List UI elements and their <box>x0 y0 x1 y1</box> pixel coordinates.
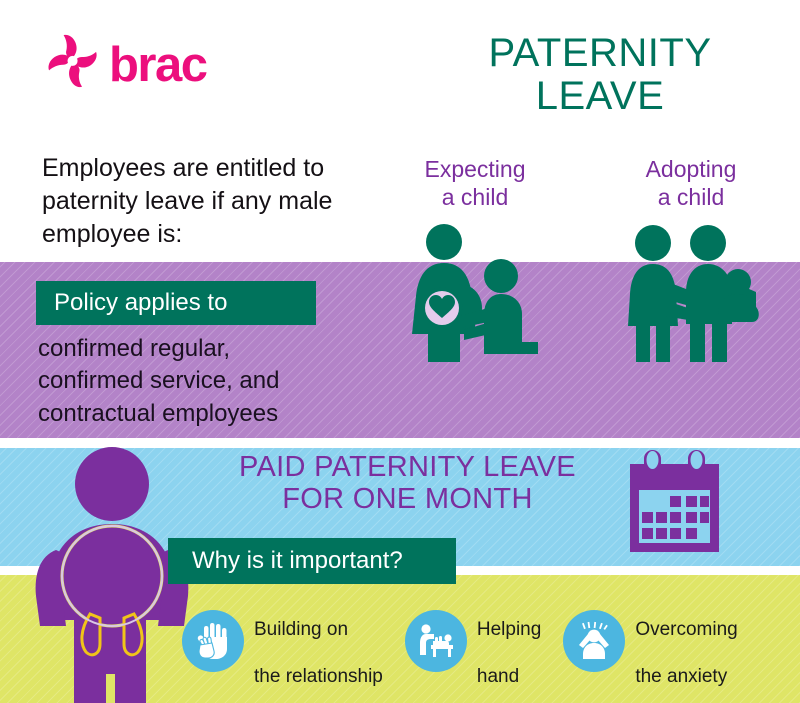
pregnant-couple-icon <box>398 222 548 364</box>
policy-heading-label: Policy applies to <box>54 289 227 317</box>
benefit-3-line-2: the anxiety <box>635 666 727 687</box>
importance-heading-box: Why is it important? <box>168 538 456 584</box>
benefit-1-line-1: Building on <box>254 619 348 640</box>
title-line-2: LEAVE <box>420 75 780 118</box>
benefit-building-on-the-relationship: Building on the relationship <box>182 595 383 688</box>
label-expecting-a-child: Expecting a child <box>390 155 560 211</box>
benefit-label-3: Overcoming the anxiety <box>635 595 737 688</box>
benefit-2-line-1: Helping <box>477 619 541 640</box>
benefit-label-2: Helping hand <box>477 595 541 688</box>
infographic-poster: brac PATERNITY LEAVE Employees are entit… <box>0 0 800 703</box>
expecting-line-2: a child <box>390 183 560 211</box>
page-title: PATERNITY LEAVE <box>420 32 780 118</box>
importance-heading-label: Why is it important? <box>192 547 403 575</box>
paid-leave-line-1: PAID PATERNITY LEAVE <box>235 452 580 484</box>
adopting-line-2: a child <box>606 183 776 211</box>
benefit-icon-circle-2 <box>405 610 467 672</box>
policy-body-text: confirmed regular, confirmed service, an… <box>38 333 338 430</box>
benefit-icon-circle-3 <box>563 610 625 672</box>
paid-leave-headline: PAID PATERNITY LEAVE FOR ONE MONTH <box>235 452 580 516</box>
benefit-2-line-2: hand <box>477 666 519 687</box>
adopting-line-1: Adopting <box>606 155 776 183</box>
intro-text: Employees are entitled to paternity leav… <box>42 152 342 251</box>
brand-wordmark: brac <box>109 41 207 90</box>
benefit-helping-hand: Helping hand <box>405 595 541 688</box>
benefit-overcoming-the-anxiety: Overcoming the anxiety <box>563 595 737 688</box>
changing-baby-icon <box>416 621 456 661</box>
title-line-1: PATERNITY <box>420 32 780 75</box>
hand-high-five-icon <box>193 621 233 661</box>
adopting-parents-icon <box>620 222 770 364</box>
benefit-3-line-1: Overcoming <box>635 619 737 640</box>
expecting-line-1: Expecting <box>390 155 560 183</box>
benefit-icon-circle-1 <box>182 610 244 672</box>
brac-pinwheel-icon <box>44 34 100 90</box>
benefit-1-line-2: the relationship <box>254 666 383 687</box>
policy-heading-box: Policy applies to <box>36 281 316 325</box>
benefits-row: Building on the relationship <box>182 595 738 688</box>
brac-logo: brac <box>44 34 207 90</box>
stressed-person-icon <box>574 621 614 661</box>
benefit-label-1: Building on the relationship <box>254 595 383 688</box>
label-adopting-a-child: Adopting a child <box>606 155 776 211</box>
paid-leave-line-2: FOR ONE MONTH <box>235 484 580 516</box>
calendar-icon <box>622 448 727 558</box>
